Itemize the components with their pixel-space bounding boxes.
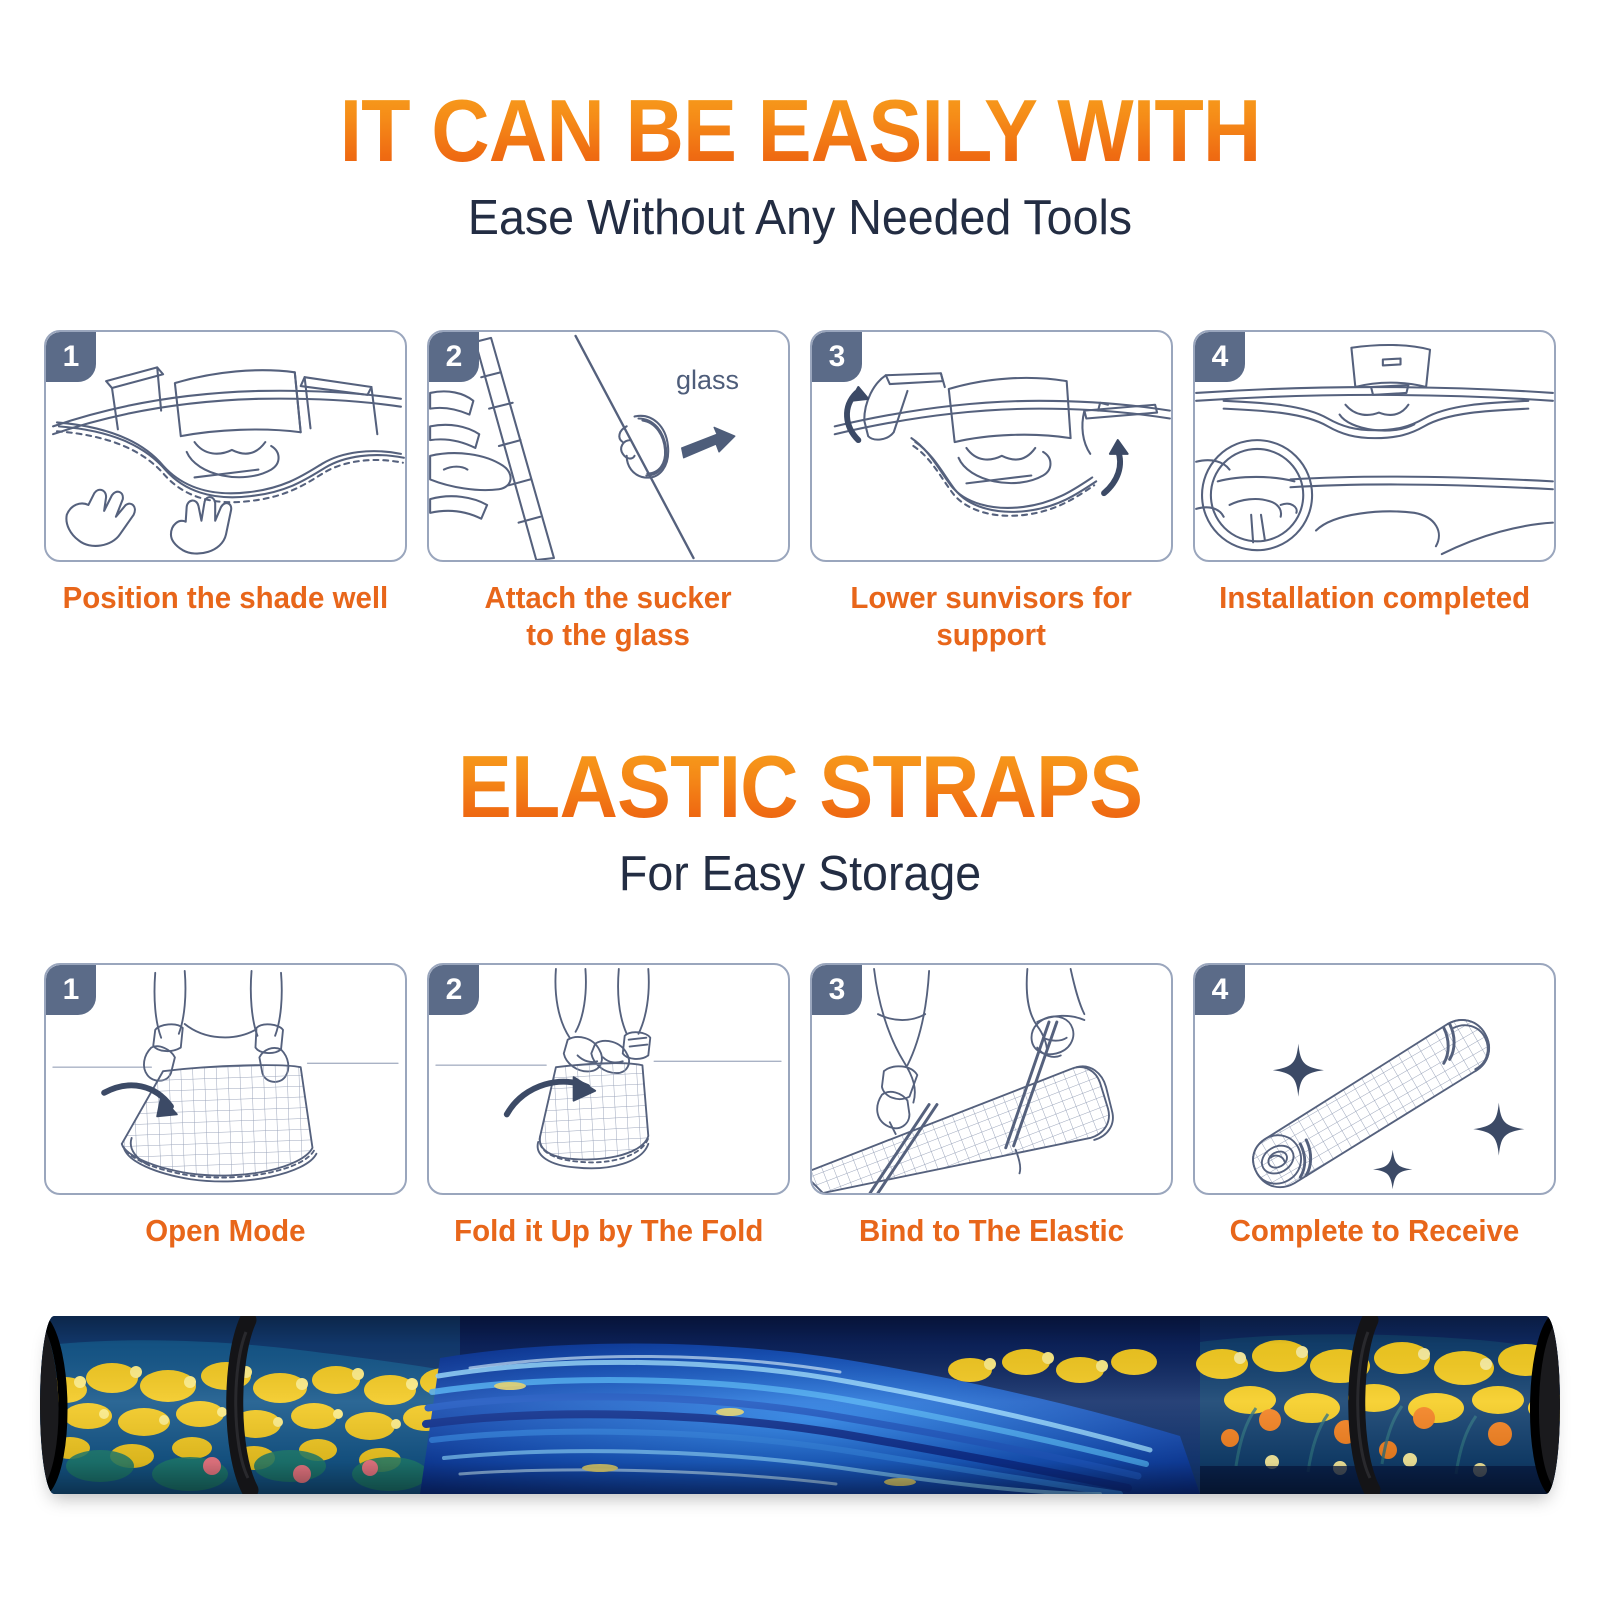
step-panel: 2 <box>427 963 790 1195</box>
step-number-badge: 4 <box>1195 965 1245 1015</box>
storage-subtitle: For Easy Storage <box>40 848 1560 902</box>
product-photo-area <box>40 1300 1560 1510</box>
step-caption: Fold it Up by The Fold <box>454 1213 763 1250</box>
storage-section-heading: ELASTIC STRAPS For Easy Storage <box>0 742 1600 902</box>
installation-subtitle: Ease Without Any Needed Tools <box>40 192 1560 246</box>
installation-section-heading: IT CAN BE EASILY WITH Ease Without Any N… <box>0 86 1600 246</box>
installation-step-2: 2 <box>427 330 790 653</box>
step-caption: Lower sunvisors for support <box>851 580 1132 653</box>
sunvisor-arrows-icon <box>812 332 1171 560</box>
step-number-badge: 1 <box>46 965 96 1015</box>
step-panel: 3 <box>810 330 1173 562</box>
storage-steps-row: 1 <box>44 963 1556 1250</box>
step-number-badge: 3 <box>812 332 862 382</box>
installation-step-4: 4 <box>1193 330 1556 653</box>
step-caption: Open Mode <box>145 1213 305 1250</box>
step-number-badge: 4 <box>1195 332 1245 382</box>
windshield-shade-hands-icon <box>46 332 405 560</box>
step-panel: 4 <box>1193 330 1556 562</box>
rolled-sunshade-photo <box>40 1316 1560 1494</box>
rolled-mat-sparkle-icon <box>1195 965 1554 1193</box>
installation-step-3: 3 <box>810 330 1173 653</box>
step-panel: 2 <box>427 330 790 562</box>
step-caption: Complete to Receive <box>1230 1213 1520 1250</box>
step-caption: Position the shade well <box>63 580 389 617</box>
installation-step-1: 1 <box>44 330 407 653</box>
step-number-badge: 1 <box>46 332 96 382</box>
step-number-badge: 2 <box>429 332 479 382</box>
storage-step-1: 1 <box>44 963 407 1250</box>
step-panel: 3 <box>810 963 1173 1195</box>
glass-annotation-label: glass <box>676 365 739 396</box>
storage-title: ELASTIC STRAPS <box>64 742 1536 832</box>
step-caption: Installation completed <box>1219 580 1530 617</box>
storage-step-3: 3 <box>810 963 1173 1250</box>
step-caption: Bind to The Elastic <box>859 1213 1124 1250</box>
storage-step-4: 4 <box>1193 963 1556 1250</box>
open-mat-hands-icon <box>46 965 405 1193</box>
storage-step-2: 2 <box>427 963 790 1250</box>
installation-title: IT CAN BE EASILY WITH <box>64 86 1536 176</box>
bind-elastic-hands-icon <box>812 965 1171 1193</box>
step-caption: Attach the sucker to the glass <box>485 580 732 653</box>
infographic-page: IT CAN BE EASILY WITH Ease Without Any N… <box>0 0 1600 1600</box>
car-interior-complete-icon <box>1195 332 1554 560</box>
step-panel: 4 <box>1193 963 1556 1195</box>
step-number-badge: 3 <box>812 965 862 1015</box>
step-panel: 1 <box>44 963 407 1195</box>
step-panel: 1 <box>44 330 407 562</box>
installation-steps-row: 1 <box>44 330 1556 653</box>
fold-mat-hands-icon <box>429 965 788 1193</box>
step-number-badge: 2 <box>429 965 479 1015</box>
